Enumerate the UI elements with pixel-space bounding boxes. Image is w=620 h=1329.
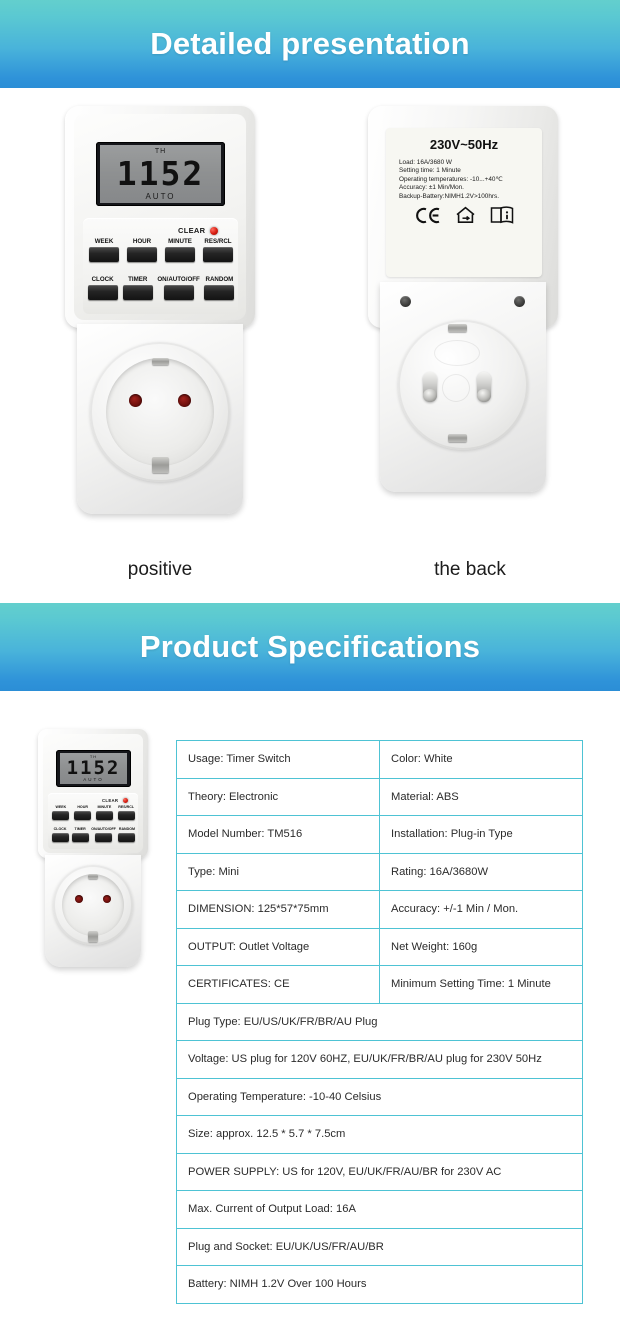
thumb-button-minute[interactable]: MINUTE [95, 806, 115, 820]
thumb-button-timer[interactable]: TIMER [71, 828, 89, 842]
lcd-mode-indicator: AUTO [145, 193, 175, 201]
product-thumbnail: TH 1152 AUTO CLEAR WEEK HOUR [38, 729, 148, 979]
thumb-button-timer-label: TIMER [75, 828, 86, 832]
rating-accuracy: Accuracy: ±1 Min/Mon. [399, 184, 464, 192]
table-row: Size: approx. 12.5 * 5.7 * 7.5cm [177, 1116, 583, 1154]
table-row: Battery: NIMH 1.2V Over 100 Hours [177, 1266, 583, 1304]
thumb-button-on-auto-off-key[interactable] [95, 833, 112, 842]
earth-clip-bottom [152, 457, 169, 473]
screw-right [514, 296, 525, 307]
spec-cell-size: Size: approx. 12.5 * 5.7 * 7.5cm [177, 1116, 583, 1154]
thumb-button-hour-label: HOUR [77, 806, 88, 810]
thumb-button-clock[interactable]: CLOCK [51, 828, 69, 842]
button-timer-label: TIMER [128, 277, 147, 283]
button-random[interactable]: RANDOM [204, 277, 235, 300]
table-row: DIMENSION: 125*57*75mm Accuracy: +/-1 Mi… [177, 891, 583, 929]
thumb-button-clock-label: CLOCK [54, 828, 67, 832]
thumb-button-on-auto-off[interactable]: ON/AUTO/OFF [91, 828, 116, 842]
product-detail-page: Detailed presentation TH 1152 AUTO [0, 0, 620, 1329]
front-view-caption: positive [0, 559, 320, 581]
thumb-button-res-rcl-label: RES/RCL [118, 806, 134, 810]
plug-earth-clip-bottom [448, 434, 467, 442]
thumb-pin-hole-right [103, 895, 111, 903]
button-hour-key[interactable] [127, 247, 157, 262]
ce-mark-icon [415, 207, 441, 224]
button-minute-key[interactable] [165, 247, 195, 262]
button-hour[interactable]: HOUR [125, 239, 159, 262]
button-timer[interactable]: TIMER [122, 277, 153, 300]
clear-label: CLEAR [178, 226, 205, 235]
thumb-lcd-screen: TH 1152 AUTO [60, 753, 127, 784]
thumb-clear-row: CLEAR [102, 798, 128, 803]
thumb-button-random[interactable]: RANDOM [118, 828, 136, 842]
screw-left [400, 296, 411, 307]
thumb-lcd-mode: AUTO [83, 778, 103, 783]
thumb-clear-label: CLEAR [102, 798, 118, 803]
product-specifications-title: Product Specifications [140, 629, 480, 665]
spec-cell-model-number: Model Number: TM516 [177, 816, 380, 854]
indoor-use-house-icon [455, 206, 476, 224]
specifications-section: TH 1152 AUTO CLEAR WEEK HOUR [0, 691, 620, 1329]
thumb-button-random-label: RANDOM [119, 828, 135, 832]
table-row: POWER SUPPLY: US for 120V, EU/UK/FR/AU/B… [177, 1153, 583, 1191]
table-row: CERTIFICATES: CE Minimum Setting Time: 1… [177, 966, 583, 1004]
front-view-photo: TH 1152 AUTO CLEAR WEEK [0, 88, 320, 603]
spec-cell-minimum-setting-time: Minimum Setting Time: 1 Minute [380, 966, 583, 1004]
lcd-time-digits: 1152 [117, 157, 204, 190]
spec-cell-material: Material: ABS [380, 778, 583, 816]
thumb-pin-hole-left [75, 895, 83, 903]
thumb-button-res-rcl-key[interactable] [118, 811, 135, 820]
detailed-presentation-banner: Detailed presentation [0, 0, 620, 88]
spec-cell-certificates: CERTIFICATES: CE [177, 966, 380, 1004]
button-clock-key[interactable] [88, 285, 118, 300]
spec-cell-plug-type: Plug Type: EU/US/UK/FR/BR/AU Plug [177, 1003, 583, 1041]
timer-device-front: TH 1152 AUTO CLEAR WEEK [65, 106, 255, 536]
spec-cell-accuracy: Accuracy: +/-1 Min / Mon. [380, 891, 583, 929]
clear-indicator-row: CLEAR [178, 226, 218, 235]
table-row: Model Number: TM516 Installation: Plug-i… [177, 816, 583, 854]
rating-label: 230V~50Hz Load: 16A/3680 W Setting time:… [386, 128, 542, 277]
timer-device-back: 230V~50Hz Load: 16A/3680 W Setting time:… [368, 106, 558, 536]
product-specifications-banner: Product Specifications [0, 603, 620, 691]
read-manual-icon [490, 206, 514, 224]
button-week-key[interactable] [89, 247, 119, 262]
detailed-presentation-title: Detailed presentation [150, 26, 469, 62]
spec-cell-rating: Rating: 16A/3680W [380, 853, 583, 891]
earth-clip-top [152, 358, 169, 365]
button-row-1: WEEK HOUR MINUTE RES/RCL [87, 239, 235, 262]
thumb-socket-housing [45, 855, 141, 967]
button-res-rcl-key[interactable] [203, 247, 233, 262]
clear-led-icon [210, 227, 218, 235]
thumb-socket-recess [62, 874, 124, 936]
button-random-key[interactable] [204, 285, 234, 300]
thumb-button-clock-key[interactable] [52, 833, 69, 842]
plug-pin-left [423, 372, 437, 402]
button-res-rcl-label: RES/RCL [204, 239, 231, 245]
button-minute[interactable]: MINUTE [163, 239, 197, 262]
lcd-screen: TH 1152 AUTO [100, 145, 221, 203]
thumb-button-row-1: WEEK HOUR MINUTE RES/RCL [51, 806, 136, 820]
thumb-lcd-display: TH 1152 AUTO [56, 750, 131, 787]
thumb-button-minute-label: MINUTE [97, 806, 111, 810]
rating-setting-time: Setting time: 1 Minute [399, 167, 461, 175]
button-on-auto-off[interactable]: ON/AUTO/OFF [157, 277, 200, 300]
button-res-rcl[interactable]: RES/RCL [201, 239, 235, 262]
table-row: Theory: Electronic Material: ABS [177, 778, 583, 816]
spec-cell-net-weight: Net Weight: 160g [380, 928, 583, 966]
button-minute-label: MINUTE [168, 239, 192, 245]
spec-cell-usage: Usage: Timer Switch [177, 741, 380, 779]
button-timer-key[interactable] [123, 285, 153, 300]
spec-cell-output: OUTPUT: Outlet Voltage [177, 928, 380, 966]
spec-cell-battery: Battery: NIMH 1.2V Over 100 Hours [177, 1266, 583, 1304]
socket-recess [106, 358, 214, 466]
plug-earth-clip-top [448, 324, 467, 332]
thumb-earth-clip-top [88, 874, 98, 879]
table-row: OUTPUT: Outlet Voltage Net Weight: 160g [177, 928, 583, 966]
button-on-auto-off-label: ON/AUTO/OFF [157, 277, 200, 283]
thumb-lcd-digits: 1152 [67, 759, 121, 778]
button-week[interactable]: WEEK [87, 239, 121, 262]
certification-icons [415, 206, 514, 224]
rating-backup-battery: Backup-Battery:NIMH1.2V>100hrs. [399, 193, 499, 201]
lcd-display: TH 1152 AUTO [96, 142, 225, 206]
table-row: Type: Mini Rating: 16A/3680W [177, 853, 583, 891]
thumb-button-on-auto-off-label: ON/AUTO/OFF [91, 828, 116, 832]
socket-pin-hole-left [129, 394, 142, 407]
thumb-button-week-label: WEEK [55, 806, 66, 810]
button-week-label: WEEK [95, 239, 114, 245]
specifications-table-body: Usage: Timer Switch Color: White Theory:… [177, 741, 583, 1304]
table-row: Plug and Socket: EU/UK/US/FR/AU/BR [177, 1228, 583, 1266]
socket-housing [77, 324, 243, 514]
rating-load: Load: 16A/3680 W [399, 159, 452, 167]
plug-emboss-upper [434, 340, 480, 366]
spec-cell-operating-temperature: Operating Temperature: -10-40 Celsius [177, 1078, 583, 1116]
thumb-button-timer-key[interactable] [72, 833, 89, 842]
specifications-table: Usage: Timer Switch Color: White Theory:… [176, 740, 583, 1304]
plug-emboss-center [442, 374, 470, 402]
socket-pin-hole-right [178, 394, 191, 407]
button-row-2: CLOCK TIMER ON/AUTO/OFF RANDOM [87, 277, 235, 300]
thumb-button-week[interactable]: WEEK [51, 806, 71, 820]
spec-cell-voltage: Voltage: US plug for 120V 60HZ, EU/UK/FR… [177, 1041, 583, 1079]
thumb-button-week-key[interactable] [52, 811, 69, 820]
table-row: Voltage: US plug for 120V 60HZ, EU/UK/FR… [177, 1041, 583, 1079]
button-random-label: RANDOM [205, 277, 233, 283]
spec-cell-theory: Theory: Electronic [177, 778, 380, 816]
product-photos-section: TH 1152 AUTO CLEAR WEEK [0, 88, 620, 603]
back-view-photo: 230V~50Hz Load: 16A/3680 W Setting time:… [320, 88, 620, 603]
table-row: Plug Type: EU/US/UK/FR/BR/AU Plug [177, 1003, 583, 1041]
thumb-button-res-rcl[interactable]: RES/RCL [116, 806, 136, 820]
thumb-earth-clip-bottom [88, 931, 98, 942]
spec-cell-dimension: DIMENSION: 125*57*75mm [177, 891, 380, 929]
spec-cell-type: Type: Mini [177, 853, 380, 891]
spec-cell-color: Color: White [380, 741, 583, 779]
spec-cell-installation: Installation: Plug-in Type [380, 816, 583, 854]
spec-cell-max-current: Max. Current of Output Load: 16A [177, 1191, 583, 1229]
table-row: Max. Current of Output Load: 16A [177, 1191, 583, 1229]
table-row: Usage: Timer Switch Color: White [177, 741, 583, 779]
table-row: Operating Temperature: -10-40 Celsius [177, 1078, 583, 1116]
thumb-button-hour-key[interactable] [74, 811, 91, 820]
thumb-button-minute-key[interactable] [96, 811, 113, 820]
button-clock-label: CLOCK [92, 277, 114, 283]
plug-housing [380, 282, 546, 492]
spec-cell-plug-and-socket: Plug and Socket: EU/UK/US/FR/AU/BR [177, 1228, 583, 1266]
thumb-button-hour[interactable]: HOUR [73, 806, 93, 820]
thumb-button-random-key[interactable] [118, 833, 135, 842]
button-hour-label: HOUR [133, 239, 151, 245]
thumb-clear-led-icon [123, 798, 128, 803]
rating-operating-temp: Operating temperatures: -10...+40℃ [399, 176, 503, 184]
plug-pin-right [477, 372, 491, 402]
spec-cell-power-supply: POWER SUPPLY: US for 120V, EU/UK/FR/AU/B… [177, 1153, 583, 1191]
thumb-button-row-2: CLOCK TIMER ON/AUTO/OFF RANDOM [51, 828, 136, 842]
button-clock[interactable]: CLOCK [87, 277, 118, 300]
rating-voltage: 230V~50Hz [430, 137, 498, 152]
button-on-auto-off-key[interactable] [164, 285, 194, 300]
back-view-caption: the back [320, 559, 620, 581]
